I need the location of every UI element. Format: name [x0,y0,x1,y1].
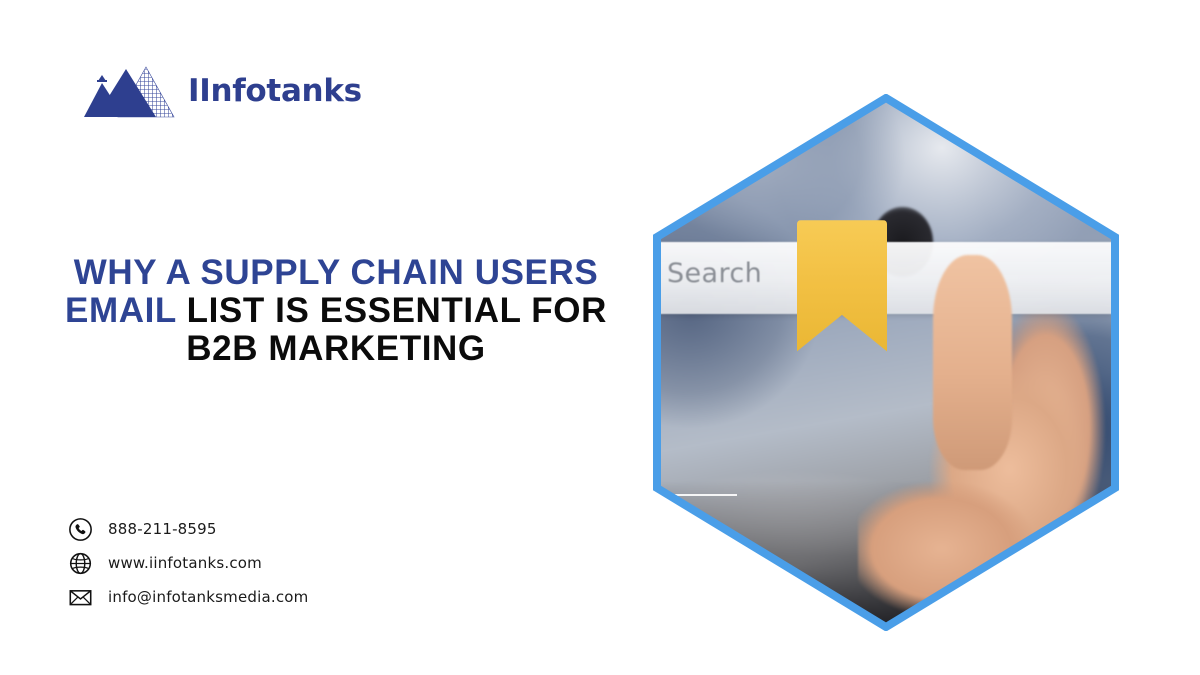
page-title: WHY A SUPPLY CHAIN USERS EMAIL LIST IS E… [36,254,636,368]
contact-row-email[interactable]: info@infotanksmedia.com [68,585,308,609]
slide-canvas: IInfotanks WHY A SUPPLY CHAIN USERS EMAI… [0,0,1200,675]
contact-website-value: www.iinfotanks.com [108,554,262,572]
brand-wordmark: IInfotanks [188,76,362,107]
brand-logo[interactable]: IInfotanks [84,61,362,121]
contact-phone-value: 888-211-8595 [108,520,217,538]
headline-line-3: B2B MARKETING [36,330,636,368]
globe-icon [68,551,93,576]
headline-line-3-text: B2B MARKETING [186,329,485,368]
phone-icon [68,517,93,542]
hexagon-frame [653,94,1119,631]
contact-info: 888-211-8595 www.iinfotanks.com info@inf… [68,517,308,609]
headline-line-2: EMAIL LIST IS ESSENTIAL FOR [36,292,636,330]
headline-emphasis-email: EMAIL [65,291,176,330]
hero-image: Search [653,94,1119,631]
headline-line-1-text: WHY A SUPPLY CHAIN USERS [74,253,599,292]
contact-row-phone[interactable]: 888-211-8595 [68,517,308,541]
headline-line-1: WHY A SUPPLY CHAIN USERS [36,254,636,292]
mountain-peaks-icon [84,61,176,121]
contact-row-website[interactable]: www.iinfotanks.com [68,551,308,575]
headline-line-2-text: LIST IS ESSENTIAL FOR [187,291,607,330]
envelope-icon [68,585,93,610]
contact-email-value: info@infotanksmedia.com [108,588,308,606]
